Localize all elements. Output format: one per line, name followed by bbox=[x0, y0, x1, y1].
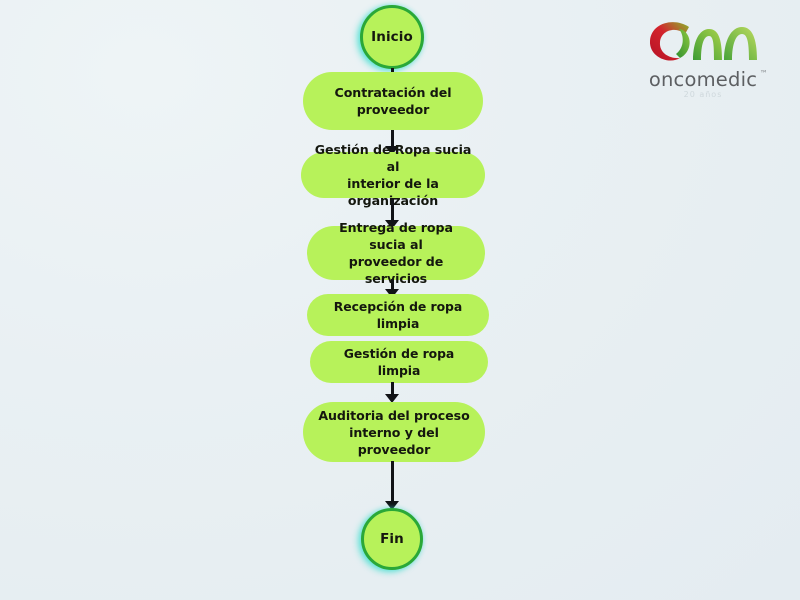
node-end: Fin bbox=[361, 508, 423, 570]
node-label: Gestión de ropa limpia bbox=[322, 345, 476, 379]
node-auditoria-proceso: Auditoria del proceso interno y del prov… bbox=[303, 402, 485, 462]
node-label-line2: interno y del proveedor bbox=[349, 425, 439, 457]
logo-wordmark-text: oncomedic bbox=[649, 68, 757, 91]
node-label: Contratación del proveedor bbox=[335, 84, 452, 118]
node-label-line1: Entrega de ropa sucia al bbox=[339, 220, 453, 252]
node-start-label: Inicio bbox=[371, 29, 413, 45]
node-start: Inicio bbox=[360, 5, 424, 69]
oncomedic-logo-mark bbox=[643, 14, 763, 66]
node-entrega-ropa-sucia-proveedor: Entrega de ropa sucia al proveedor de se… bbox=[307, 226, 485, 280]
node-label-line2: proveedor bbox=[357, 102, 430, 117]
node-label: Auditoria del proceso interno y del prov… bbox=[315, 407, 473, 458]
logo-tagline: 20 años bbox=[628, 90, 778, 99]
node-label-line1: Contratación del bbox=[335, 85, 452, 100]
node-label-line1: Gestión de Ropa sucia al bbox=[315, 142, 472, 174]
node-end-label: Fin bbox=[380, 531, 404, 547]
logo-wordmark: oncomedic ™ bbox=[649, 68, 757, 91]
oncomedic-logo: oncomedic ™ 20 años bbox=[628, 14, 778, 106]
connector-n6-to-end bbox=[381, 461, 403, 511]
node-gestion-ropa-limpia: Gestión de ropa limpia bbox=[310, 341, 488, 383]
connector-n5-to-n6 bbox=[381, 382, 403, 404]
node-label: Entrega de ropa sucia al proveedor de se… bbox=[319, 219, 473, 287]
node-recepcion-ropa-limpia: Recepción de ropa limpia bbox=[307, 294, 489, 336]
trademark-icon: ™ bbox=[760, 69, 768, 78]
node-label: Recepción de ropa limpia bbox=[319, 298, 477, 332]
node-contratacion-del-proveedor: Contratación del proveedor bbox=[303, 72, 483, 130]
flowchart-canvas: oncomedic ™ 20 años Inicio Contratación … bbox=[0, 0, 800, 600]
node-label-line1: Auditoria del proceso bbox=[318, 408, 469, 423]
node-gestion-ropa-sucia-interior: Gestión de Ropa sucia al interior de la … bbox=[301, 152, 485, 198]
